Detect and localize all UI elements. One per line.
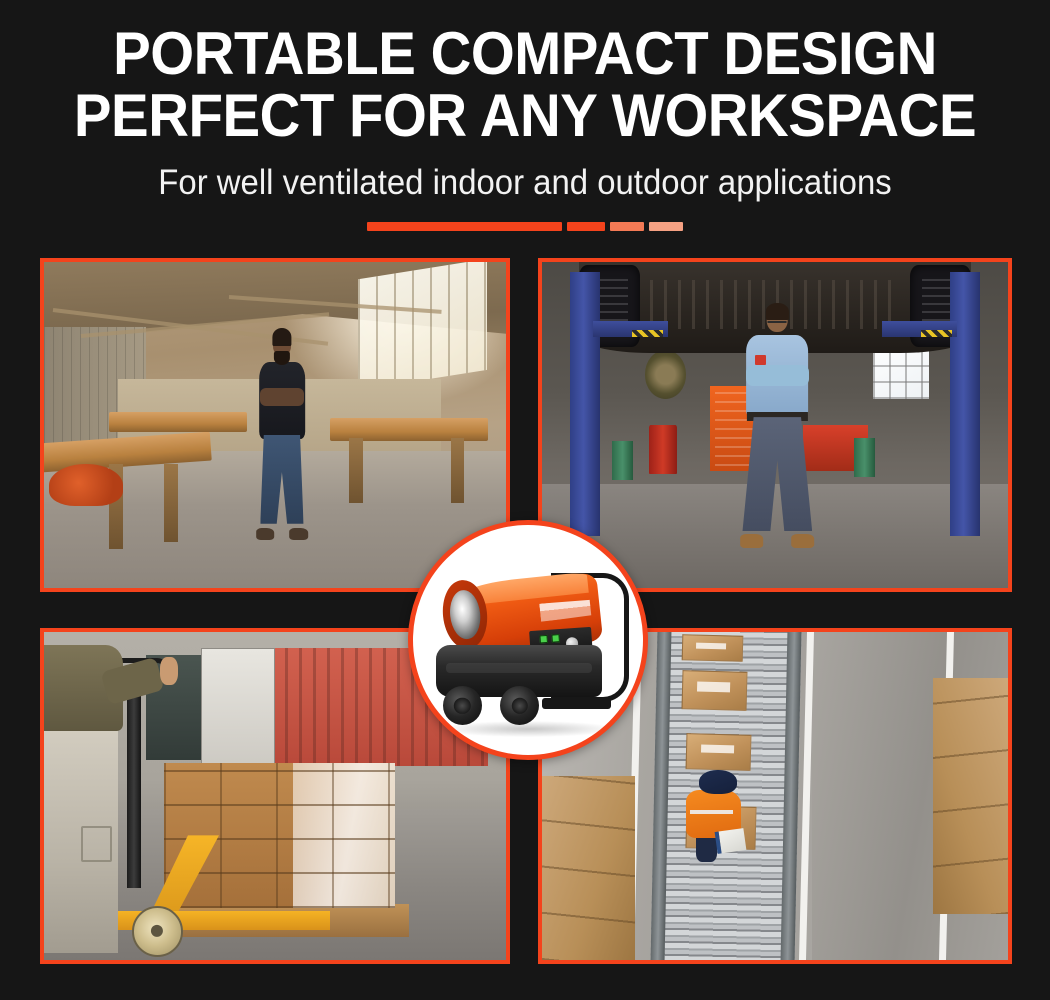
lift-arm-left [593,321,668,337]
dock-worker-cargo-pocket [81,826,112,863]
warehouse-worker-clipboard [714,828,745,854]
promo-banner: PORTABLE COMPACT DESIGN PERFECT FOR ANY … [0,0,1050,1000]
garage-green-drum [612,441,633,480]
workshop-clerestory-window [358,258,487,389]
mechanic [738,308,817,546]
lift-arm-right [882,321,957,337]
heater-wheel-right [500,686,539,725]
divider-accent-bars [0,222,1050,231]
headline-line-2: PERFECT FOR ANY WORKSPACE [32,86,1019,146]
worker-jeans [260,435,303,524]
divider-segment-long [367,222,562,231]
warehouse-worker-legs [696,834,717,862]
heater-outlet-cone [447,588,482,641]
diesel-forced-air-heater [413,525,643,755]
workshop-worker [252,334,312,536]
mechanic-work-boots [739,534,817,548]
worker-crossed-arms [260,388,303,406]
divider-segment-tiny [649,222,683,231]
mechanic-crossed-arms [746,365,809,386]
dock-worker [44,645,123,953]
mechanic-name-patch [755,355,766,365]
warehouse-worker [682,770,747,862]
worker-shoes [256,528,308,540]
warehouse-worker-cap [699,770,737,794]
parcel-on-conveyor [681,634,742,662]
dock-worker-trousers [44,725,118,953]
mechanic-hair [766,303,788,320]
subtitle: For well ventilated indoor and outdoor a… [32,164,1019,202]
workshop-bench-leg [164,464,178,542]
workshop-bench-leg [349,438,363,503]
banner-header: PORTABLE COMPACT DESIGN PERFECT FOR ANY … [0,0,1050,231]
dock-worker-hand [160,657,177,685]
headline-line-1: PORTABLE COMPACT DESIGN [32,24,1019,84]
heater-indicator-light [552,634,561,642]
divider-segment-medium [567,222,605,231]
garage-red-drum [649,425,677,474]
carton-stack-right [933,678,1008,914]
workshop-bench-mid [109,412,248,432]
divider-segment-small [610,222,644,231]
worker-hair [272,328,291,346]
garage-brake-rotor [645,350,687,399]
heater-wheel-left [443,686,482,725]
product-badge [408,520,648,760]
hi-vis-reflective-stripe [690,810,733,814]
pallet-jack-wheel [132,906,183,957]
lift-post-left [570,272,600,536]
shrink-wrap [293,763,395,907]
mechanic-safety-glasses [768,321,787,326]
heater-handle-foot [542,698,611,710]
heater-indicator-light [540,634,549,642]
lift-post-right [950,272,980,536]
carton-stack-left [542,776,635,960]
workshop-bench-leg [451,438,465,503]
parcel-on-conveyor [686,733,752,771]
parcel-on-conveyor [681,671,747,712]
shipping-container-white [201,648,275,766]
garage-green-drum [854,438,875,477]
mechanic-trousers [742,417,812,531]
workshop-table-saw [49,464,123,506]
